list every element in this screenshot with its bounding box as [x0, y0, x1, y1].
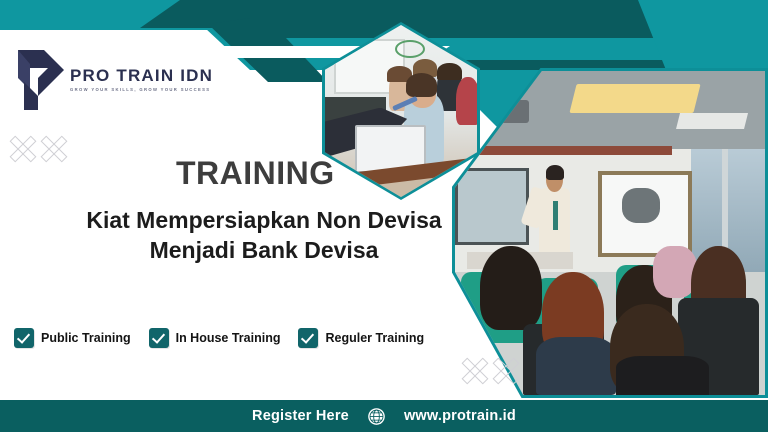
brand-logo[interactable]: PRO TRAIN IDN GROW YOUR SKILLS, GROW YOU…	[14, 48, 213, 112]
checkbox-checked-icon[interactable]	[298, 328, 318, 348]
protrain-chevron-logo-icon	[14, 48, 66, 112]
x-motif-icon	[10, 136, 36, 162]
training-promo-banner: PRO TRAIN IDN GROW YOUR SKILLS, GROW YOU…	[0, 0, 768, 432]
x-motif-icon	[493, 358, 519, 384]
brand-tagline: GROW YOUR SKILLS, GROW YOUR SUCCESS	[70, 88, 213, 92]
training-type-options: Public Training In House Training Regule…	[14, 328, 424, 348]
option-reguler-training[interactable]: Reguler Training	[298, 328, 424, 348]
option-label: In House Training	[176, 331, 281, 345]
option-label: Public Training	[41, 331, 131, 345]
website-url[interactable]: www.protrain.id	[404, 408, 516, 424]
x-pattern-left	[10, 136, 67, 162]
eyebrow-heading: TRAINING	[176, 157, 335, 189]
x-motif-icon	[462, 358, 488, 384]
register-here-label[interactable]: Register Here	[252, 408, 349, 424]
x-pattern-bottom	[462, 358, 519, 384]
option-in-house-training[interactable]: In House Training	[149, 328, 281, 348]
x-motif-icon	[41, 136, 67, 162]
option-label: Reguler Training	[325, 331, 424, 345]
footer-bar: Register Here www.protrain.id	[0, 400, 768, 432]
checkbox-checked-icon[interactable]	[149, 328, 169, 348]
brand-name: PRO TRAIN IDN	[70, 67, 213, 84]
page-title: Kiat Mempersiapkan Non Devisa Menjadi Ba…	[74, 205, 454, 266]
checkbox-checked-icon[interactable]	[14, 328, 34, 348]
option-public-training[interactable]: Public Training	[14, 328, 131, 348]
globe-icon	[367, 407, 386, 426]
